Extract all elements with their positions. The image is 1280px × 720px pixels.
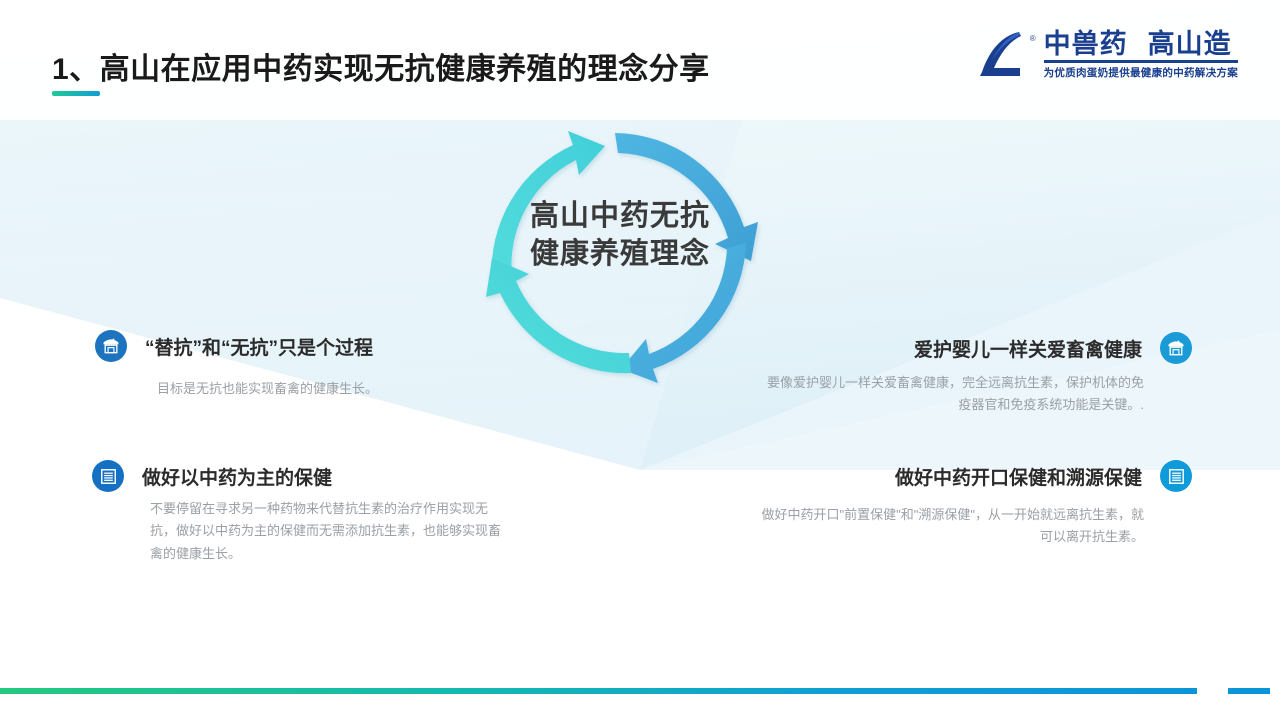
brand-mark-icon: ® [976, 28, 1034, 80]
document-lines-icon [1160, 460, 1192, 492]
brand-logo: ® 中兽药 高山造 为优质肉蛋奶提供最健康的中药解决方案 [976, 28, 1238, 80]
cycle-center-label: 高山中药无抗 健康养殖理念 [440, 197, 800, 274]
brand-divider [1044, 60, 1238, 63]
storefront-icon [95, 330, 127, 362]
document-lines-icon [92, 460, 124, 492]
slide-canvas: 1、高山在应用中药实现无抗健康养殖的理念分享 ® 中兽药 高山造 为优质肉蛋奶提… [0, 0, 1280, 720]
content-block-4-body: 做好中药开口"前置保健"和"溯源保健"，从一开始就远离抗生素，就可以离开抗生素。 [760, 504, 1192, 549]
content-block-3-title: 爱护婴儿一样关爱畜禽健康 [914, 335, 1142, 362]
content-block-3-header: 爱护婴儿一样关爱畜禽健康 [760, 332, 1192, 364]
brand-logo-text: 中兽药 高山造 为优质肉蛋奶提供最健康的中药解决方案 [1044, 30, 1238, 80]
footer-accent-bar-tail [1228, 688, 1270, 694]
cycle-center-line2: 健康养殖理念 [440, 235, 800, 273]
page-title: 1、高山在应用中药实现无抗健康养殖的理念分享 [52, 44, 710, 88]
brand-name-left: 中兽药 [1044, 30, 1128, 58]
content-block-3-body: 要像爱护婴儿一样关爱畜禽健康，完全远离抗生素，保护机体的免疫器官和免疫系统功能是… [760, 372, 1192, 417]
content-block-2: 做好以中药为主的保健 不要停留在寻求另一种药物来代替抗生素的治疗作用实现无抗，做… [92, 460, 512, 565]
brand-name-row: 中兽药 高山造 [1044, 30, 1238, 58]
cycle-center-line1: 高山中药无抗 [440, 197, 800, 235]
content-block-1-title: “替抗”和“无抗”只是个过程 [145, 333, 373, 360]
content-block-2-body: 不要停留在寻求另一种药物来代替抗生素的治疗作用实现无抗，做好以中药为主的保健而无… [150, 498, 512, 565]
brand-tagline: 为优质肉蛋奶提供最健康的中药解决方案 [1044, 65, 1238, 80]
storefront-icon [1160, 332, 1192, 364]
content-block-1-body: 目标是无抗也能实现畜禽的健康生长。 [157, 378, 515, 400]
footer-accent-bar [0, 688, 1197, 694]
title-accent-underline [52, 91, 100, 96]
content-block-4-header: 做好中药开口保健和溯源保健 [760, 460, 1192, 492]
content-block-2-header: 做好以中药为主的保健 [92, 460, 512, 492]
content-block-1: “替抗”和“无抗”只是个过程 目标是无抗也能实现畜禽的健康生长。 [95, 330, 515, 400]
content-block-2-title: 做好以中药为主的保健 [142, 463, 332, 490]
content-block-4: 做好中药开口保健和溯源保健 做好中药开口"前置保健"和"溯源保健"，从一开始就远… [760, 460, 1192, 549]
content-block-1-header: “替抗”和“无抗”只是个过程 [95, 330, 515, 362]
content-block-4-title: 做好中药开口保健和溯源保健 [895, 463, 1142, 490]
brand-name-right: 高山造 [1148, 30, 1232, 58]
content-block-3: 爱护婴儿一样关爱畜禽健康 要像爱护婴儿一样关爱畜禽健康，完全远离抗生素，保护机体… [760, 332, 1192, 417]
registered-trademark-icon: ® [1030, 34, 1036, 43]
